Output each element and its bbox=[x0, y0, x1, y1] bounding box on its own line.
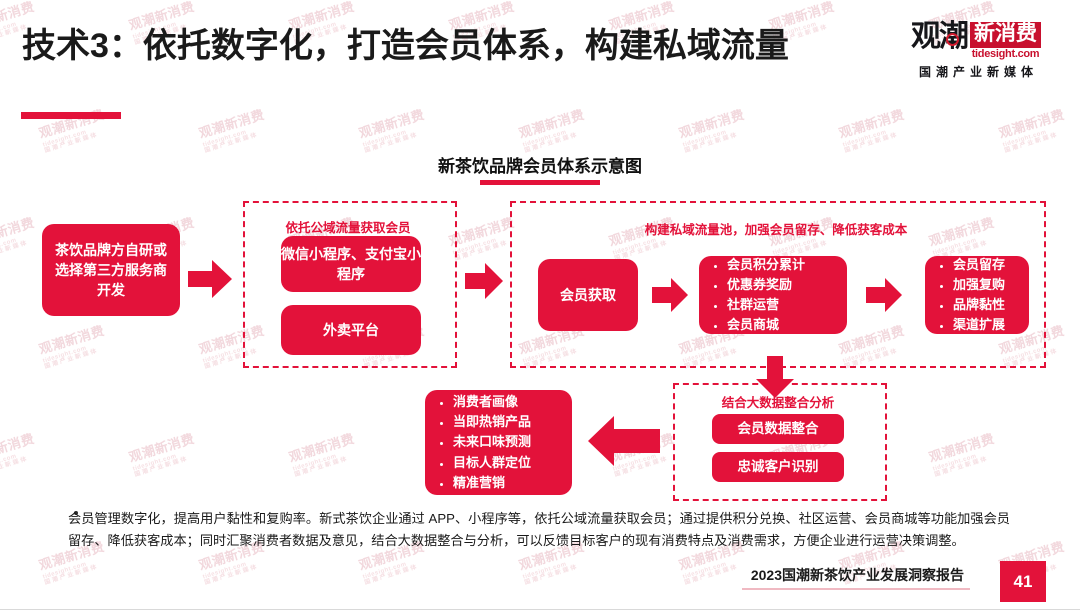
bigdata-box-loyalty-label: 忠诚客户识别 bbox=[738, 457, 819, 477]
list-item: 渠道扩展 bbox=[953, 315, 1005, 335]
watermark-tile: 观潮新消费tidesight.com国潮产业新媒体 bbox=[127, 431, 200, 479]
list-item: 加强复购 bbox=[953, 275, 1005, 295]
title-underline-rule bbox=[21, 112, 121, 119]
watermark-tile: 观潮新消费tidesight.com国潮产业新媒体 bbox=[37, 323, 110, 371]
private-box-operate: 会员积分累计 优惠券奖励 社群运营 会员商城 bbox=[699, 256, 847, 334]
arrow-right-1 bbox=[188, 258, 232, 300]
insight-list: 消费者画像 当即热销产品 未来口味预测 目标人群定位 精准营销 bbox=[425, 392, 531, 493]
logo-target-icon bbox=[946, 33, 959, 46]
list-item: 会员积分累计 bbox=[727, 255, 805, 275]
private-box-operate-list: 会员积分累计 优惠券奖励 社群运营 会员商城 bbox=[699, 255, 805, 336]
slide-canvas: 观潮新消费tidesight.com国潮产业新媒体观潮新消费tidesight.… bbox=[0, 0, 1080, 610]
list-item: 会员留存 bbox=[953, 255, 1005, 275]
watermark-tile: 观潮新消费tidesight.com国潮产业新媒体 bbox=[837, 107, 910, 155]
list-item: 精准营销 bbox=[453, 473, 531, 493]
watermark-tile: 观潮新消费tidesight.com国潮产业新媒体 bbox=[927, 431, 1000, 479]
watermark-tile: 观潮新消费tidesight.com国潮产业新媒体 bbox=[997, 107, 1070, 155]
list-item: 消费者画像 bbox=[453, 392, 531, 412]
logo-url: tidesight.com bbox=[970, 48, 1041, 60]
arrow-left-1 bbox=[588, 415, 660, 467]
watermark-tile: 观潮新消费tidesight.com国潮产业新媒体 bbox=[0, 215, 40, 263]
list-item: 优惠券奖励 bbox=[727, 275, 805, 295]
private-domain-group-caption: 构建私域流量池，加强会员留存、降低获客成本 bbox=[510, 219, 1042, 238]
list-item: 品牌黏性 bbox=[953, 295, 1005, 315]
public-domain-group-caption: 依托公域流量获取会员 bbox=[243, 217, 453, 236]
private-box-acquire: 会员获取 bbox=[538, 259, 638, 331]
logo-row: 观潮 新消费 tidesight.com bbox=[886, 22, 1066, 60]
private-box-acquire-label: 会员获取 bbox=[560, 285, 616, 305]
brand-logo: 观潮 新消费 tidesight.com 国潮产业新媒体 bbox=[886, 22, 1066, 80]
list-item: 未来口味预测 bbox=[453, 432, 531, 452]
footer-report-title: 2023国潮新茶饮产业发展洞察报告 bbox=[751, 565, 964, 585]
public-box-miniprogram: 微信小程序、支付宝小程序 bbox=[281, 236, 421, 292]
logo-brand-cn: 观潮 bbox=[911, 22, 967, 60]
footer-underline bbox=[742, 588, 970, 590]
private-box-retain-list: 会员留存 加强复购 品牌黏性 渠道扩展 bbox=[925, 255, 1005, 336]
page-number-badge: 41 bbox=[1000, 561, 1046, 602]
public-box-delivery: 外卖平台 bbox=[281, 305, 421, 355]
list-item: 社群运营 bbox=[727, 295, 805, 315]
diagram-title-underline bbox=[480, 180, 600, 185]
list-item: 会员商城 bbox=[727, 315, 805, 335]
start-box: 茶饮品牌方自研或选择第三方服务商开发 bbox=[42, 224, 180, 316]
logo-right-stack: 新消费 tidesight.com bbox=[970, 22, 1041, 60]
page-title: 技术3：依托数字化，打造会员体系，构建私域流量 bbox=[22, 18, 789, 67]
watermark-tile: 观潮新消费tidesight.com国潮产业新媒体 bbox=[287, 431, 360, 479]
private-box-retain: 会员留存 加强复购 品牌黏性 渠道扩展 bbox=[925, 256, 1029, 334]
diagram-title: 新茶饮品牌会员体系示意图 bbox=[0, 152, 1080, 177]
watermark-tile: 观潮新消费tidesight.com国潮产业新媒体 bbox=[517, 107, 590, 155]
arrow-right-4 bbox=[866, 277, 902, 313]
bigdata-box-integration-label: 会员数据整合 bbox=[738, 419, 819, 439]
public-box-miniprogram-label: 微信小程序、支付宝小程序 bbox=[281, 244, 421, 285]
arrow-right-3 bbox=[652, 277, 688, 313]
list-item: 目标人群定位 bbox=[453, 453, 531, 473]
watermark-tile: 观潮新消费tidesight.com国潮产业新媒体 bbox=[357, 107, 430, 155]
bigdata-box-loyalty: 忠诚客户识别 bbox=[712, 452, 844, 482]
arrow-right-2 bbox=[465, 262, 503, 300]
insight-box: 消费者画像 当即热销产品 未来口味预测 目标人群定位 精准营销 bbox=[425, 390, 572, 495]
body-paragraph: 会员管理数字化，提高用户黏性和复购率。新式茶饮企业通过 APP、小程序等，依托公… bbox=[68, 508, 1010, 552]
watermark-tile: 观潮新消费tidesight.com国潮产业新媒体 bbox=[197, 107, 270, 155]
public-box-delivery-label: 外卖平台 bbox=[323, 320, 379, 340]
logo-tagline: 国潮产业新媒体 bbox=[886, 63, 1066, 80]
list-item: 当即热销产品 bbox=[453, 412, 531, 432]
bigdata-group-caption: 结合大数据整合分析 bbox=[673, 392, 883, 411]
start-box-label: 茶饮品牌方自研或选择第三方服务商开发 bbox=[52, 240, 170, 301]
logo-brand-red: 新消费 bbox=[970, 22, 1041, 48]
watermark-tile: 观潮新消费tidesight.com国潮产业新媒体 bbox=[0, 431, 40, 479]
watermark-tile: 观潮新消费tidesight.com国潮产业新媒体 bbox=[677, 107, 750, 155]
bigdata-box-integration: 会员数据整合 bbox=[712, 414, 844, 444]
